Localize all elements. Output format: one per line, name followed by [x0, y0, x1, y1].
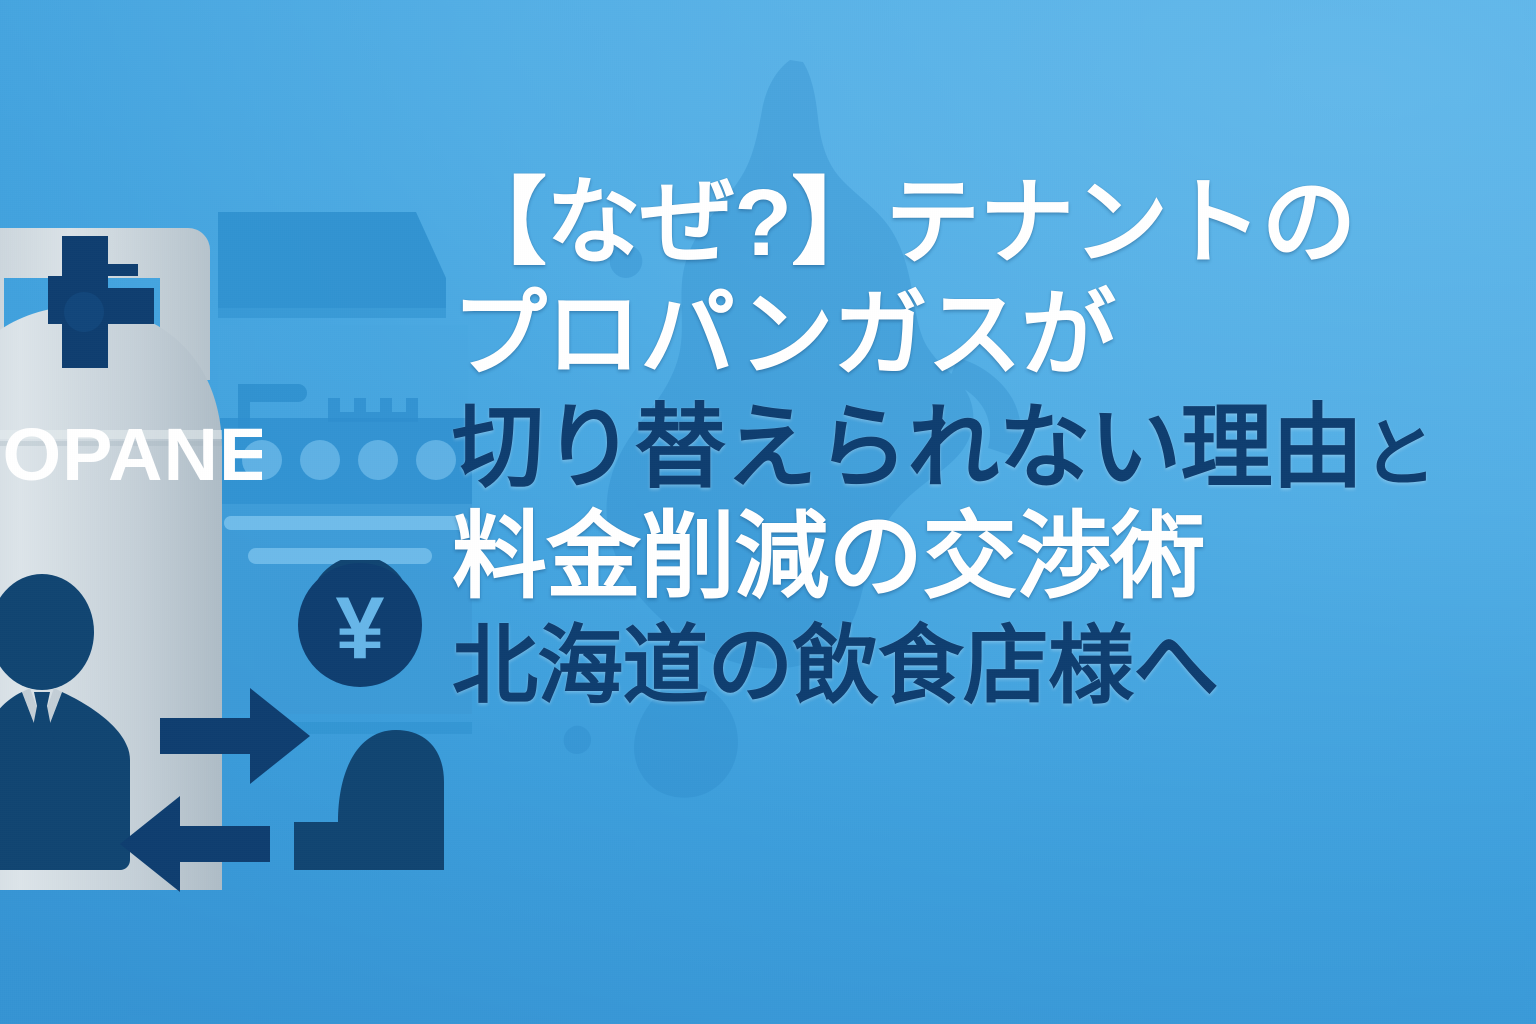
tank-label: PROPANE	[0, 413, 262, 496]
headline-line-5: 北海道の飲食店様へ	[452, 623, 1522, 709]
headline-line-3-main: 切り替えられない理由	[452, 397, 1363, 499]
businessman-icon	[0, 560, 130, 870]
headline-line-3: 切り替えられない理由と	[452, 402, 1522, 494]
svg-text:¥: ¥	[336, 578, 385, 677]
yen-coin-icon: ¥	[298, 563, 422, 687]
headline-line-3-tail: と	[1363, 412, 1436, 495]
poster-canvas: PROPANE	[0, 0, 1536, 1024]
headline-line-1: 【なぜ?】テナントの	[452, 176, 1522, 271]
headline-block: 【なぜ?】テナントの プロパンガスが 切り替えられない理由と 料金削減の交渉術 …	[452, 176, 1522, 709]
headline-line-2: プロパンガスが	[452, 288, 1522, 383]
headline-line-4: 料金削減の交渉術	[452, 510, 1522, 605]
exchange-illustration: ¥	[0, 560, 460, 930]
arrow-right-icon	[160, 688, 310, 784]
arrow-left-icon	[120, 796, 270, 892]
